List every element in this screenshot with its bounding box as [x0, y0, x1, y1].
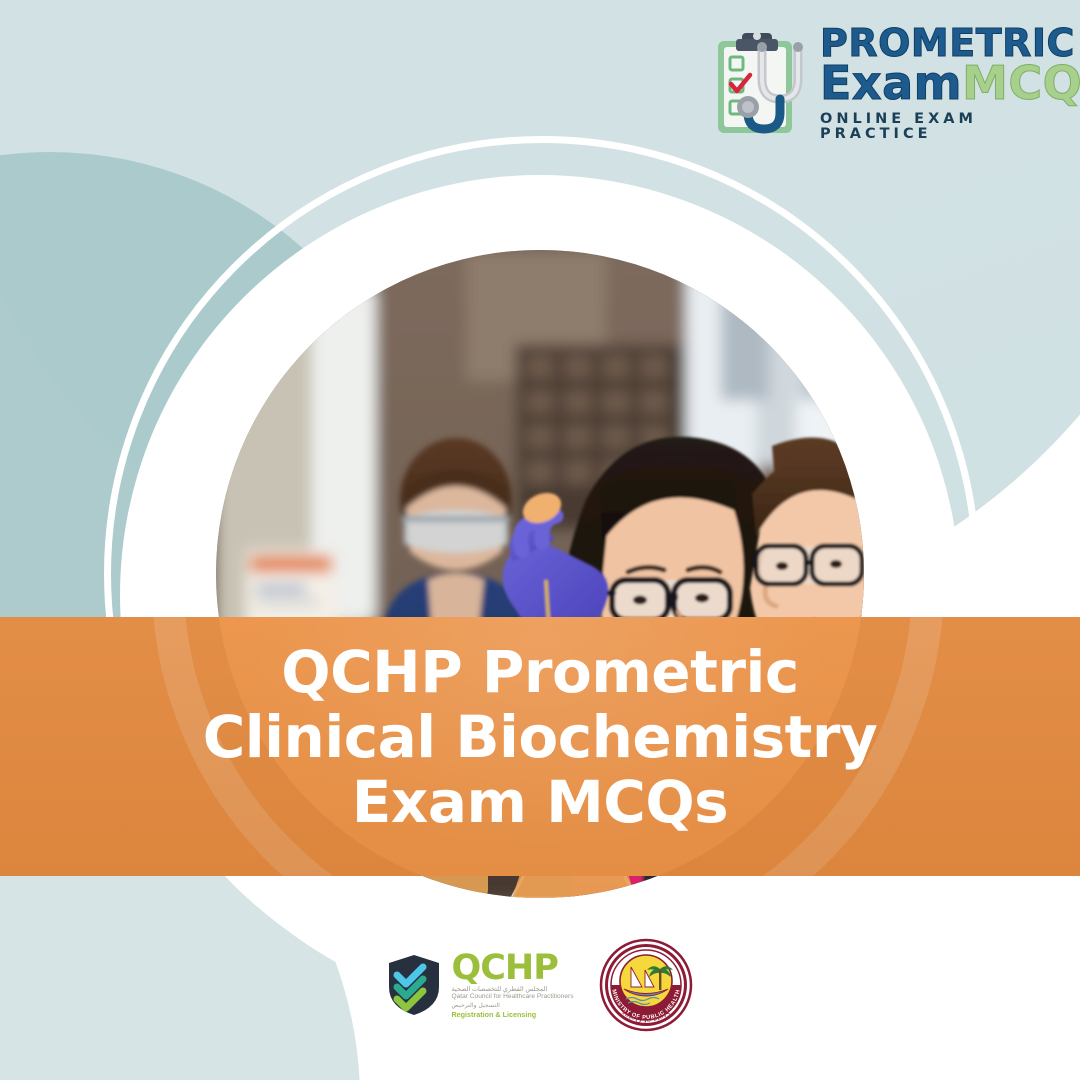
footer-logos: QCHP المجلس القطري للتخصصات الصحية Qatar…	[0, 930, 1080, 1040]
qchp-subtitle-arabic: المجلس القطري للتخصصات الصحية	[451, 986, 573, 994]
prometric-exam-mcq-logo[interactable]: PROMETRIC ExamMCQ ONLINE EXAM PRACTICE	[706, 22, 1058, 144]
qchp-text-block: QCHP المجلس القطري للتخصصات الصحية Qatar…	[451, 951, 573, 1019]
page-title: QCHP Prometric Clinical Biochemistry Exa…	[0, 640, 1080, 835]
title-line-1: QCHP Prometric	[60, 640, 1020, 705]
logo-word-mcq: MCQ	[962, 56, 1080, 110]
qchp-shield-checkmarks-icon	[386, 953, 442, 1017]
qchp-department-arabic: التسجيل والترخيص	[451, 1002, 573, 1009]
poster-canvas: QCHP Prometric Clinical Biochemistry Exa…	[0, 0, 1080, 1080]
logo-line-exammcq: ExamMCQ	[820, 62, 1080, 106]
logo-tagline: ONLINE EXAM PRACTICE	[820, 112, 1080, 141]
logo-wordmark: PROMETRIC ExamMCQ ONLINE EXAM PRACTICE	[816, 25, 1080, 142]
state-of-qatar-ministry-of-public-health-seal: State of Qatar MINISTRY OF PUBLIC HEALTH	[598, 937, 694, 1033]
qchp-logo: QCHP المجلس القطري للتخصصات الصحية Qatar…	[386, 951, 573, 1019]
qchp-subtitle-english: Qatar Council for Healthcare Practitione…	[451, 993, 573, 1001]
logo-word-exam: Exam	[820, 56, 962, 110]
qchp-acronym: QCHP	[451, 951, 573, 986]
title-line-2: Clinical Biochemistry	[60, 705, 1020, 770]
clipboard-stethoscope-icon	[706, 27, 816, 139]
title-line-3: Exam MCQs	[60, 770, 1020, 835]
qchp-department-english: Registration & Licensing	[451, 1011, 573, 1019]
